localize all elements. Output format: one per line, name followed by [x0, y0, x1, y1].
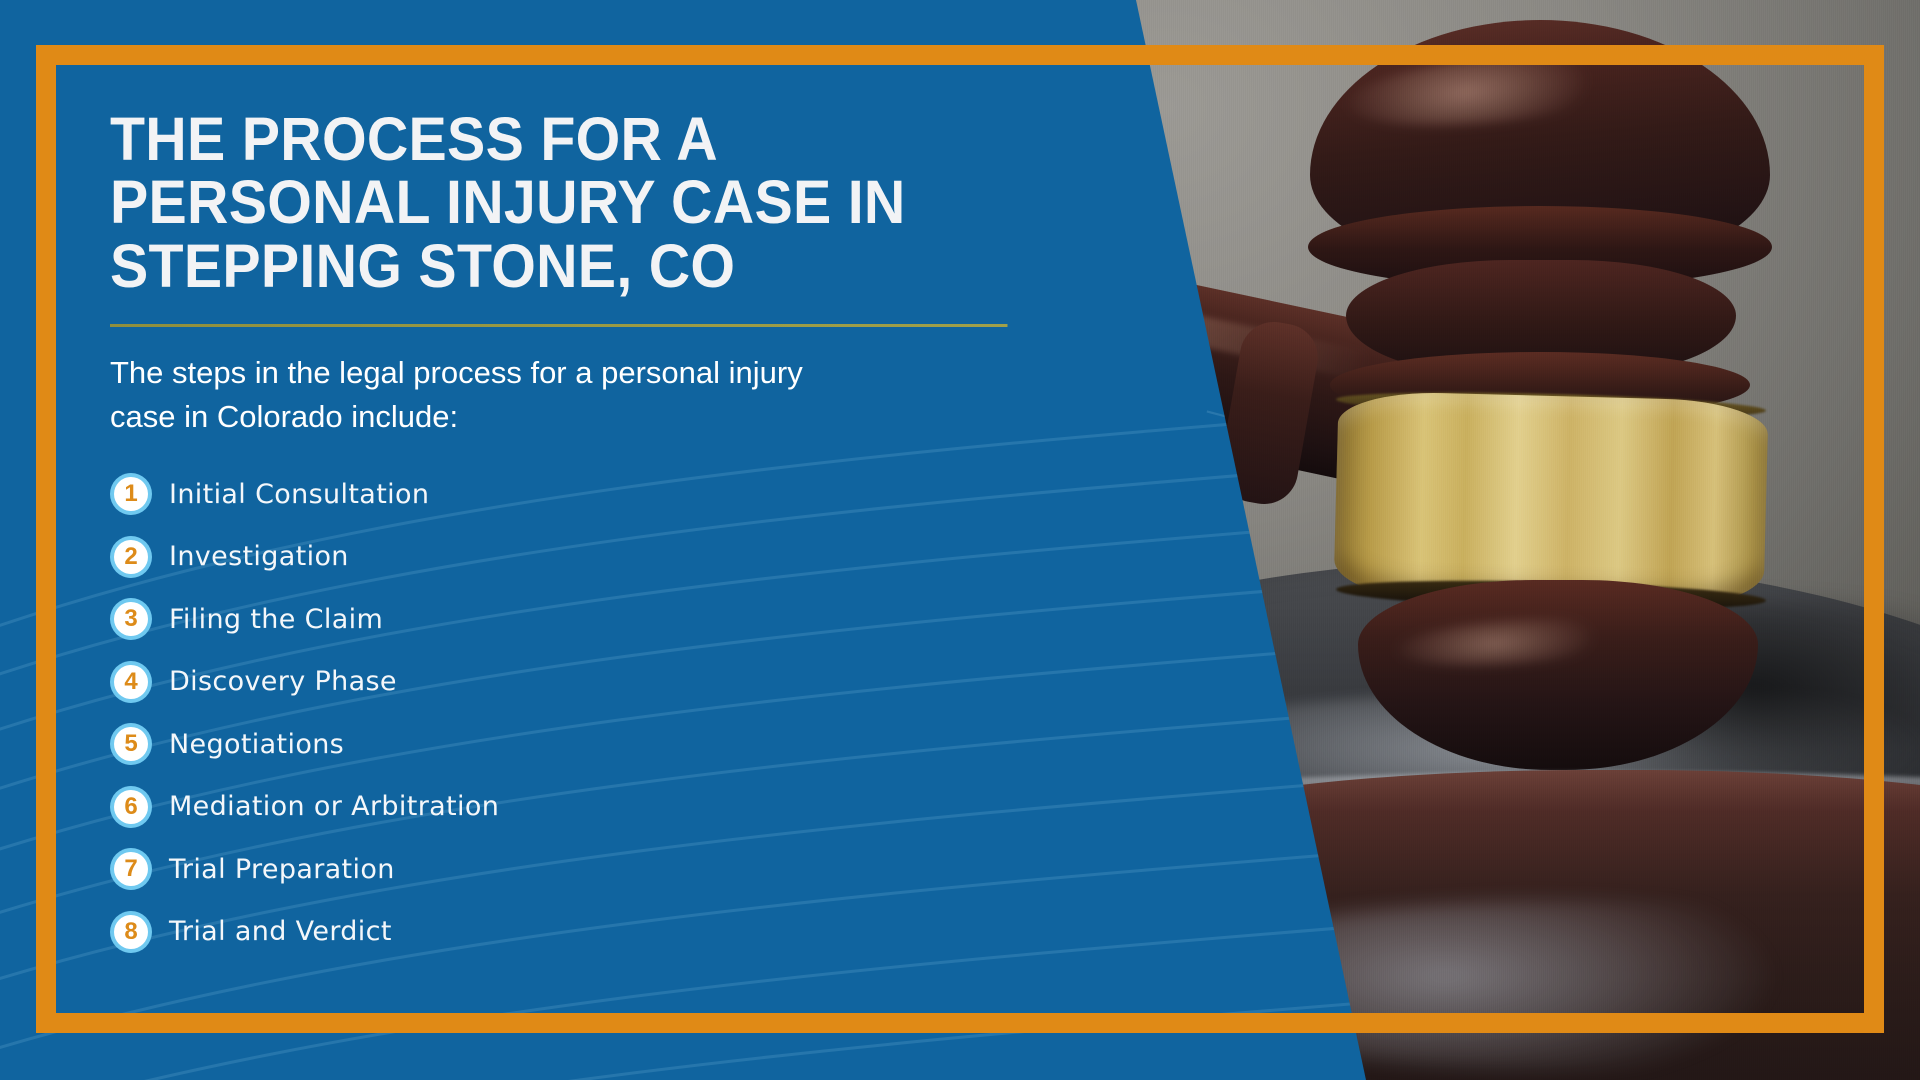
content-column: THE PROCESS FOR A PERSONAL INJURY CASE I… [110, 108, 1120, 973]
step-number-badge: 6 [110, 786, 152, 828]
step-label: Mediation or Arbitration [169, 791, 499, 822]
list-item: 3 Filing the Claim [110, 594, 1120, 644]
step-label: Investigation [169, 541, 349, 572]
page-title: THE PROCESS FOR A PERSONAL INJURY CASE I… [110, 108, 1059, 298]
step-number-badge: 7 [110, 848, 152, 890]
page-title-line-3: STEPPING STONE, CO [110, 235, 1059, 298]
title-divider [110, 324, 1007, 327]
subtitle-line-1: The steps in the legal process for a per… [110, 351, 990, 395]
step-number: 4 [124, 670, 137, 694]
step-number: 8 [124, 920, 137, 944]
steps-list: 1 Initial Consultation 2 Investigation 3… [110, 469, 1120, 957]
step-number: 3 [124, 607, 137, 631]
step-number-badge: 5 [110, 723, 152, 765]
step-label: Initial Consultation [169, 479, 429, 510]
infographic-canvas: THE PROCESS FOR A PERSONAL INJURY CASE I… [0, 0, 1920, 1080]
page-title-line-2: PERSONAL INJURY CASE IN [110, 171, 1059, 234]
list-item: 5 Negotiations [110, 719, 1120, 769]
step-label: Trial Preparation [169, 854, 395, 885]
subtitle-line-2: case in Colorado include: [110, 395, 990, 439]
list-item: 6 Mediation or Arbitration [110, 782, 1120, 832]
list-item: 1 Initial Consultation [110, 469, 1120, 519]
step-number-badge: 2 [110, 536, 152, 578]
step-number: 5 [124, 732, 137, 756]
page-title-line-1: THE PROCESS FOR A [110, 108, 1059, 171]
step-number-badge: 3 [110, 598, 152, 640]
step-number-badge: 4 [110, 661, 152, 703]
step-number-badge: 8 [110, 911, 152, 953]
subtitle: The steps in the legal process for a per… [110, 351, 990, 439]
list-item: 8 Trial and Verdict [110, 907, 1120, 957]
step-number: 2 [124, 545, 137, 569]
list-item: 4 Discovery Phase [110, 657, 1120, 707]
list-item: 2 Investigation [110, 532, 1120, 582]
step-number: 6 [124, 795, 137, 819]
step-label: Filing the Claim [169, 604, 383, 635]
step-label: Trial and Verdict [169, 916, 392, 947]
step-number: 7 [124, 857, 137, 881]
step-number-badge: 1 [110, 473, 152, 515]
step-label: Discovery Phase [169, 666, 397, 697]
step-number: 1 [124, 482, 137, 506]
list-item: 7 Trial Preparation [110, 844, 1120, 894]
step-label: Negotiations [169, 729, 344, 760]
